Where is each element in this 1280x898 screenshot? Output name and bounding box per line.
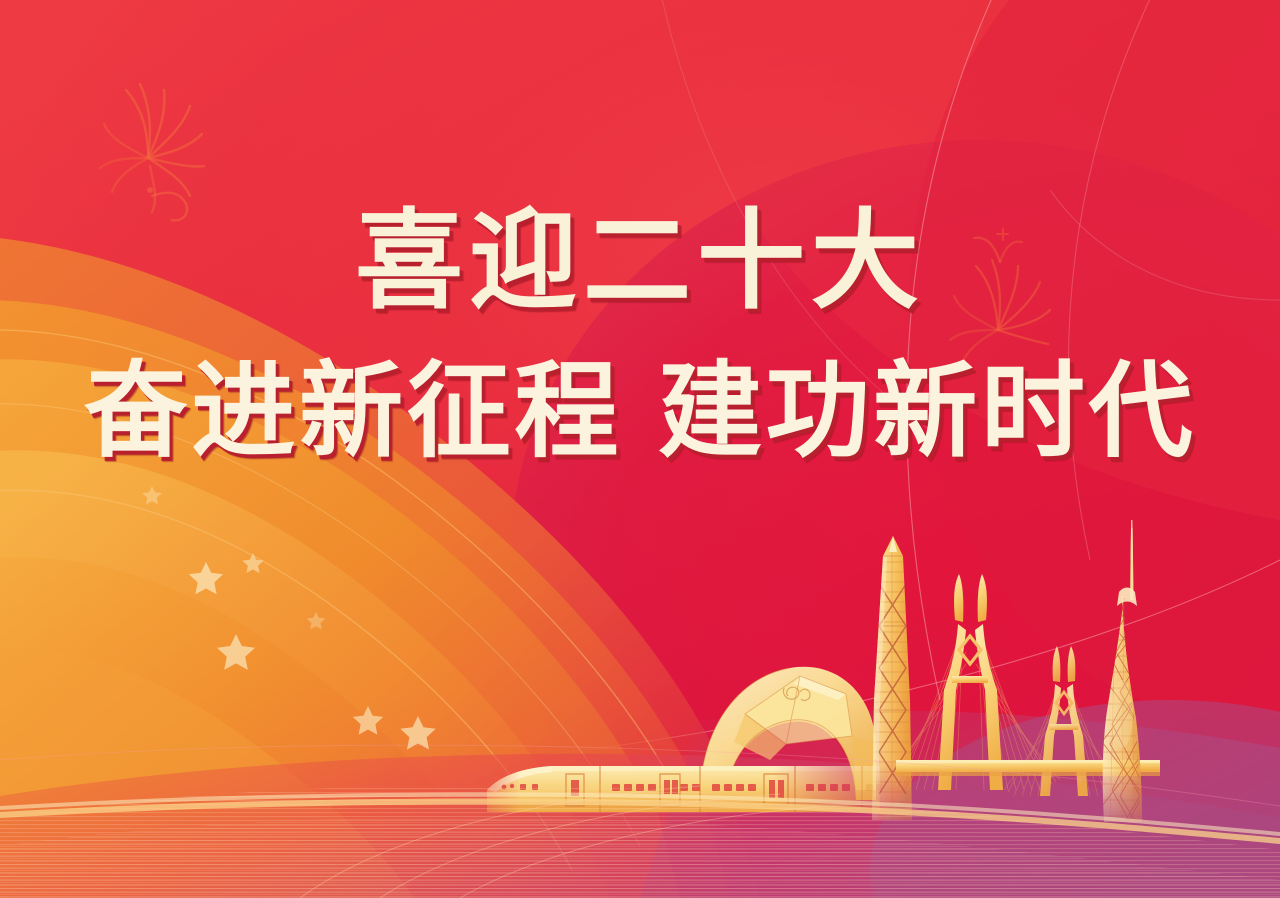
skyline-illustration (0, 0, 1280, 898)
canton-tower (1098, 506, 1158, 850)
poster-canvas: 喜迎二十大 奋进新征程建功新时代 (0, 0, 1280, 898)
